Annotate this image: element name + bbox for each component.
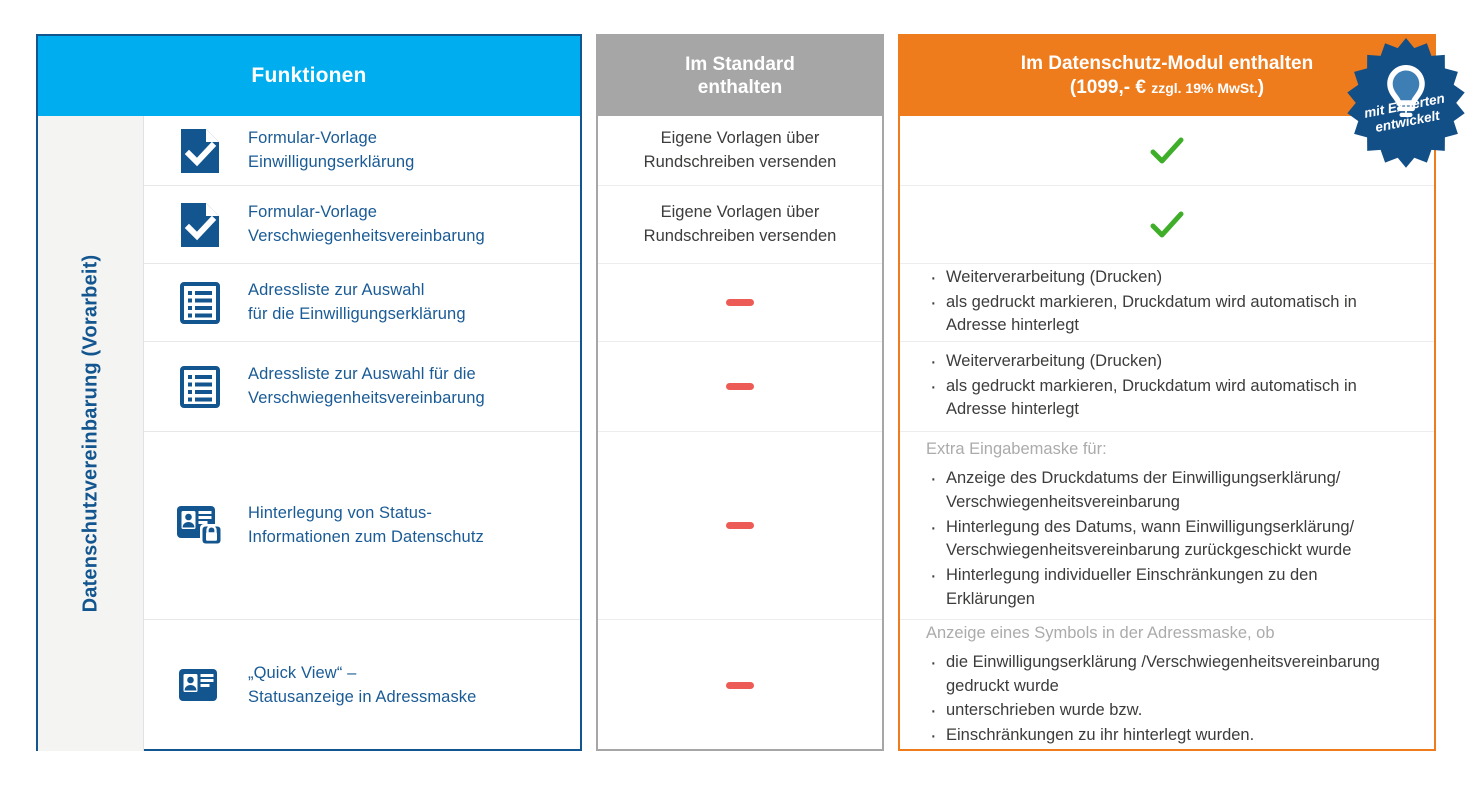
feature-label-line2: Verschwiegenheitsvereinbarung bbox=[248, 225, 485, 249]
module-bullet-list: Anzeige des Druckdatums der Einwilligung… bbox=[926, 467, 1408, 614]
table-row: Hinterlegung von Status- Informationen z… bbox=[144, 432, 580, 620]
column-standard: Im Standard enthalten Eigene Vorlagen üb… bbox=[596, 34, 884, 751]
feature-label: Adressliste zur Auswahl für die Einwilli… bbox=[248, 279, 466, 327]
side-label-cell: Datenschutzvereinbarung (Vorarbeit) bbox=[38, 116, 144, 751]
included-check-icon bbox=[1150, 210, 1184, 240]
table-cell-module bbox=[900, 186, 1434, 264]
feature-label-line2: Statusanzeige in Adressmaske bbox=[248, 686, 476, 710]
feature-label: „Quick View“ – Statusanzeige in Adressma… bbox=[248, 662, 476, 710]
column-standard-header-line1: Im Standard bbox=[685, 53, 795, 76]
feature-label-line2: Einwilligungserklärung bbox=[248, 151, 414, 175]
table-cell-standard bbox=[598, 620, 882, 751]
table-cell-standard: Eigene Vorlagen über Rundschreiben verse… bbox=[598, 186, 882, 264]
feature-label-line1: Adressliste zur Auswahl für die bbox=[248, 363, 485, 387]
not-included-dash-icon bbox=[726, 299, 754, 306]
standard-text-line2: Rundschreiben versenden bbox=[644, 225, 837, 248]
list-item: unterschrieben wurde bzw. bbox=[926, 699, 1408, 723]
table-row: Adressliste zur Auswahl für die Verschwi… bbox=[144, 342, 580, 432]
list-item: Einschränkungen zu ihr hinterlegt wurden… bbox=[926, 724, 1408, 748]
feature-label-line2: für die Einwilligungserklärung bbox=[248, 303, 466, 327]
module-bullet-list: Weiterverarbeitung (Drucken) als gedruck… bbox=[926, 266, 1408, 340]
list-item: Anzeige des Druckdatums der Einwilligung… bbox=[926, 467, 1408, 515]
price-tax-note: zzgl. 19% MwSt. bbox=[1151, 80, 1258, 96]
list-item: als gedruckt markieren, Druckdatum wird … bbox=[926, 375, 1408, 423]
standard-value-text: Eigene Vorlagen über Rundschreiben verse… bbox=[644, 201, 837, 248]
feature-label-line1: „Quick View“ – bbox=[248, 662, 476, 686]
id-card-lock-icon bbox=[152, 506, 248, 546]
expert-badge: mit Experten entwickelt bbox=[1340, 36, 1472, 168]
list-icon bbox=[152, 366, 248, 408]
price-paren-close: ) bbox=[1258, 77, 1264, 98]
price-amount: 1099,- € bbox=[1076, 77, 1151, 98]
functions-body: Datenschutzvereinbarung (Vorarbeit) Form… bbox=[38, 116, 580, 751]
feature-label-line1: Adressliste zur Auswahl bbox=[248, 279, 466, 303]
list-item: die Einwilligungserklärung /Verschwiegen… bbox=[926, 651, 1408, 699]
list-item: Hinterlegung individueller Einschränkung… bbox=[926, 564, 1408, 612]
list-item: Weiterverarbeitung (Drucken) bbox=[926, 266, 1408, 290]
column-module-price: (1099,- € zzgl. 19% MwSt.) bbox=[1021, 76, 1313, 100]
standard-rows: Eigene Vorlagen über Rundschreiben verse… bbox=[598, 116, 882, 751]
functions-rows: Formular-Vorlage Einwilligungserklärung … bbox=[144, 116, 580, 751]
table-row: Adressliste zur Auswahl für die Einwilli… bbox=[144, 264, 580, 342]
standard-value-text: Eigene Vorlagen über Rundschreiben verse… bbox=[644, 127, 837, 174]
column-standard-header: Im Standard enthalten bbox=[598, 36, 882, 116]
id-card-icon bbox=[152, 669, 248, 703]
feature-label-line1: Formular-Vorlage bbox=[248, 201, 485, 225]
list-item: Hinterlegung des Datums, wann Einwilligu… bbox=[926, 516, 1408, 564]
not-included-dash-icon bbox=[726, 383, 754, 390]
feature-label-line2: Informationen zum Datenschutz bbox=[248, 526, 484, 550]
not-included-dash-icon bbox=[726, 682, 754, 689]
column-functions: Funktionen Datenschutzvereinbarung (Vora… bbox=[36, 34, 582, 751]
document-check-icon bbox=[152, 203, 248, 247]
document-check-icon bbox=[152, 129, 248, 173]
side-label-text: Datenschutzvereinbarung (Vorarbeit) bbox=[79, 255, 102, 613]
included-check-icon bbox=[1150, 136, 1184, 166]
module-rows: Weiterverarbeitung (Drucken) als gedruck… bbox=[900, 116, 1434, 751]
feature-label: Hinterlegung von Status- Informationen z… bbox=[248, 502, 484, 550]
standard-text-line1: Eigene Vorlagen über bbox=[644, 201, 837, 224]
standard-text-line2: Rundschreiben versenden bbox=[644, 151, 837, 174]
comparison-table: Funktionen Datenschutzvereinbarung (Vora… bbox=[0, 0, 1480, 793]
module-intro-text: Anzeige eines Symbols in der Adressmaske… bbox=[926, 622, 1408, 646]
list-item: Weiterverarbeitung (Drucken) bbox=[926, 350, 1408, 374]
not-included-dash-icon bbox=[726, 522, 754, 529]
table-cell-module: Anzeige eines Symbols in der Adressmaske… bbox=[900, 620, 1434, 751]
table-row: „Quick View“ – Statusanzeige in Adressma… bbox=[144, 620, 580, 751]
table-cell-module: Weiterverarbeitung (Drucken) als gedruck… bbox=[900, 264, 1434, 342]
list-item: als gedruckt markieren, Druckdatum wird … bbox=[926, 291, 1408, 339]
module-intro-text: Extra Eingabemaske für: bbox=[926, 438, 1408, 462]
table-cell-module: Extra Eingabemaske für: Anzeige des Druc… bbox=[900, 432, 1434, 620]
column-functions-header-label: Funktionen bbox=[251, 64, 366, 88]
table-cell-standard bbox=[598, 342, 882, 432]
table-cell-standard bbox=[598, 264, 882, 342]
feature-label-line1: Formular-Vorlage bbox=[248, 127, 414, 151]
table-row: Formular-Vorlage Verschwiegenheitsverein… bbox=[144, 186, 580, 264]
feature-label-line2: Verschwiegenheitsvereinbarung bbox=[248, 387, 485, 411]
feature-label: Formular-Vorlage Verschwiegenheitsverein… bbox=[248, 201, 485, 249]
feature-label: Adressliste zur Auswahl für die Verschwi… bbox=[248, 363, 485, 411]
standard-text-line1: Eigene Vorlagen über bbox=[644, 127, 837, 150]
feature-label-line1: Hinterlegung von Status- bbox=[248, 502, 484, 526]
table-cell-module: Weiterverarbeitung (Drucken) als gedruck… bbox=[900, 342, 1434, 432]
module-bullet-list: die Einwilligungserklärung /Verschwiegen… bbox=[926, 651, 1408, 750]
table-row: Formular-Vorlage Einwilligungserklärung bbox=[144, 116, 580, 186]
table-cell-standard: Eigene Vorlagen über Rundschreiben verse… bbox=[598, 116, 882, 186]
column-module-header-line1: Im Datenschutz-Modul enthalten bbox=[1021, 52, 1313, 76]
list-icon bbox=[152, 282, 248, 324]
column-functions-header: Funktionen bbox=[38, 36, 580, 116]
module-bullet-list: Weiterverarbeitung (Drucken) als gedruck… bbox=[926, 350, 1408, 424]
feature-label: Formular-Vorlage Einwilligungserklärung bbox=[248, 127, 414, 175]
column-standard-header-line2: enthalten bbox=[685, 76, 795, 99]
table-cell-standard bbox=[598, 432, 882, 620]
